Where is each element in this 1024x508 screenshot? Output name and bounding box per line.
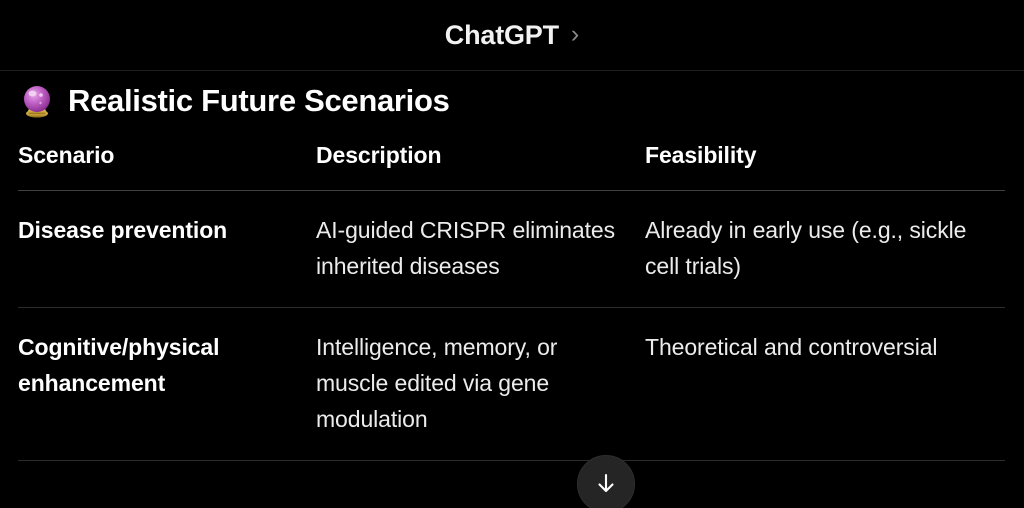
- crystal-ball-icon: [18, 82, 56, 120]
- cell-scenario: Disease prevention: [18, 191, 316, 308]
- message-heading-text: Realistic Future Scenarios: [68, 84, 450, 118]
- table-body: Disease prevention AI-guided CRISPR elim…: [18, 191, 1005, 461]
- model-selector[interactable]: ChatGPT ›: [0, 0, 1024, 70]
- arrow-down-icon: [593, 471, 619, 497]
- app-header-bar: ChatGPT ›: [0, 0, 1024, 71]
- column-header-scenario: Scenario: [18, 142, 316, 191]
- app-title: ChatGPT: [445, 22, 559, 49]
- cell-description: AI-guided CRISPR eliminates inherited di…: [316, 191, 645, 308]
- scenarios-table-wrapper: Scenario Description Feasibility Disease…: [18, 142, 1005, 461]
- cell-feasibility: Already in early use (e.g., sickle cell …: [645, 191, 1005, 308]
- scenarios-table: Scenario Description Feasibility Disease…: [18, 142, 1005, 461]
- table-header-row: Scenario Description Feasibility: [18, 142, 1005, 191]
- message-heading: Realistic Future Scenarios: [0, 71, 1024, 120]
- message-content: Realistic Future Scenarios Scenario Desc…: [0, 71, 1024, 508]
- chevron-right-icon[interactable]: ›: [571, 22, 579, 47]
- table-row: Disease prevention AI-guided CRISPR elim…: [18, 191, 1005, 308]
- chat-screen: ChatGPT ›: [0, 0, 1024, 508]
- table-header: Scenario Description Feasibility: [18, 142, 1005, 191]
- cell-description: Intelligence, memory, or muscle edited v…: [316, 307, 645, 460]
- cell-feasibility: Theoretical and controversial: [645, 307, 1005, 460]
- table-row: Cognitive/physical enhancement Intellige…: [18, 307, 1005, 460]
- column-header-feasibility: Feasibility: [645, 142, 1005, 191]
- cell-scenario: Cognitive/physical enhancement: [18, 307, 316, 460]
- scroll-to-bottom-button[interactable]: [577, 455, 635, 508]
- column-header-description: Description: [316, 142, 645, 191]
